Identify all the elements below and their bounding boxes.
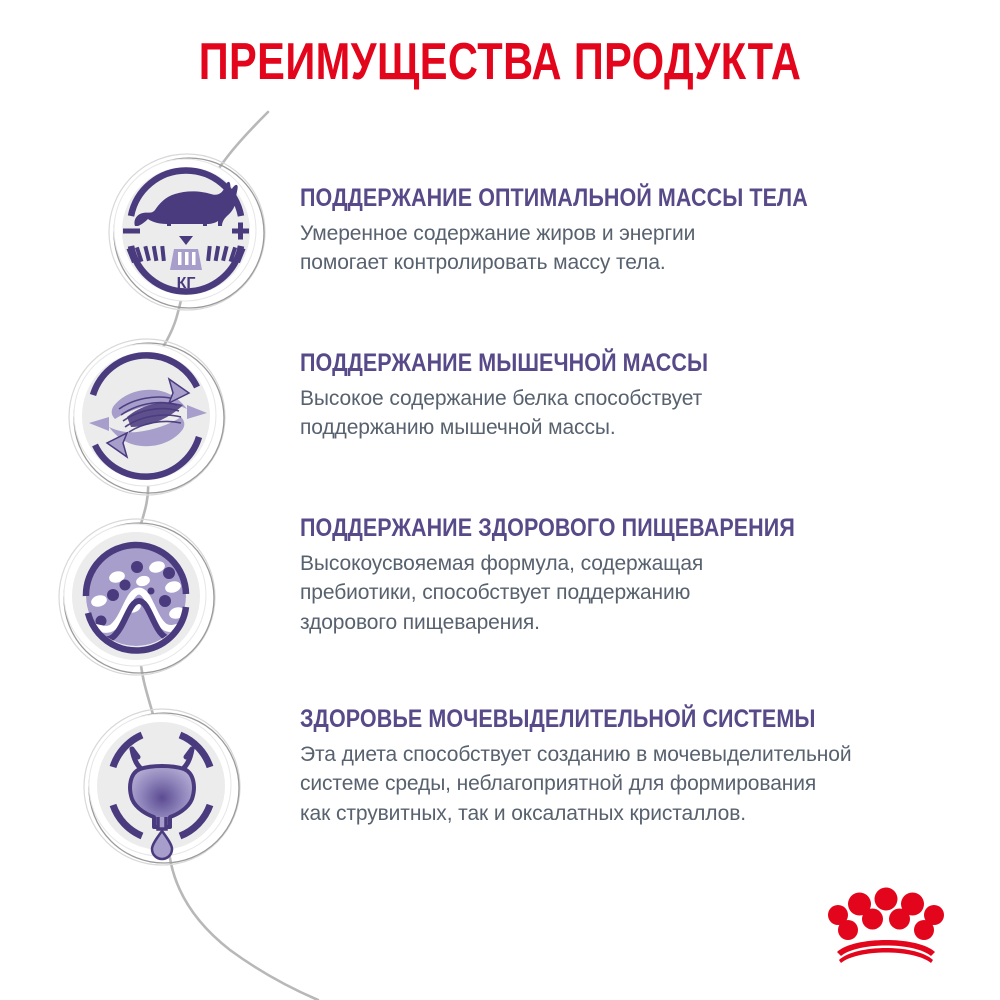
benefit-body-1: Умеренное содержание жиров и энергии пом… — [300, 219, 891, 279]
benefit-block-2: ПОДДЕРЖАНИЕ МЫШЕЧНОЙ МАССЫ Высокое содер… — [300, 351, 775, 443]
brand-logo — [828, 886, 944, 971]
muscle-fiber-cycle-icon — [65, 335, 230, 500]
benefit-icon-3 — [55, 515, 220, 680]
benefit-block-3: ПОДДЕРЖАНИЕ ЗДОРОВОГО ПИЩЕВАРЕНИЯ Высоко… — [300, 516, 875, 638]
benefit-block-1: ПОДДЕРЖАНИЕ ОПТИМАЛЬНОЙ МАССЫ ТЕЛА Умере… — [300, 186, 891, 278]
benefit-heading-2: ПОДДЕРЖАНИЕ МЫШЕЧНОЙ МАССЫ — [300, 351, 708, 377]
benefit-icon-2 — [65, 335, 230, 500]
benefit-icon-1: КГ — [105, 150, 270, 315]
benefit-body-2: Высокое содержание белка способствует по… — [300, 384, 775, 444]
benefit-body-4: Эта диета способствует созданию в мочевы… — [300, 740, 899, 829]
benefit-heading-4: ЗДОРОВЬЕ МОЧЕВЫДЕЛИТЕЛЬНОЙ СИСТЕМЫ — [300, 707, 815, 733]
benefit-icon-4 — [80, 705, 245, 870]
product-benefits-page: ПРЕИМУЩЕСТВА ПРОДУКТА — [0, 0, 1000, 1000]
benefit-body-3: Высокоусвояемая формула, содержащая преб… — [300, 549, 875, 638]
urinary-bladder-icon — [80, 705, 245, 870]
benefit-heading-1: ПОДДЕРЖАНИЕ ОПТИМАЛЬНОЙ МАССЫ ТЕЛА — [300, 186, 808, 212]
benefit-heading-3: ПОДДЕРЖАНИЕ ЗДОРОВОГО ПИЩЕВАРЕНИЯ — [300, 516, 795, 542]
page-title: ПРЕИМУЩЕСТВА ПРОДУКТА — [100, 36, 900, 88]
benefit-block-4: ЗДОРОВЬЕ МОЧЕВЫДЕЛИТЕЛЬНОЙ СИСТЕМЫ Эта д… — [300, 707, 899, 829]
cat-on-weight-scale-icon: КГ — [105, 150, 270, 315]
digestive-health-icon — [55, 515, 220, 680]
icon-weight-unit-label: КГ — [177, 275, 196, 292]
royal-canin-crown-logo — [828, 886, 944, 966]
